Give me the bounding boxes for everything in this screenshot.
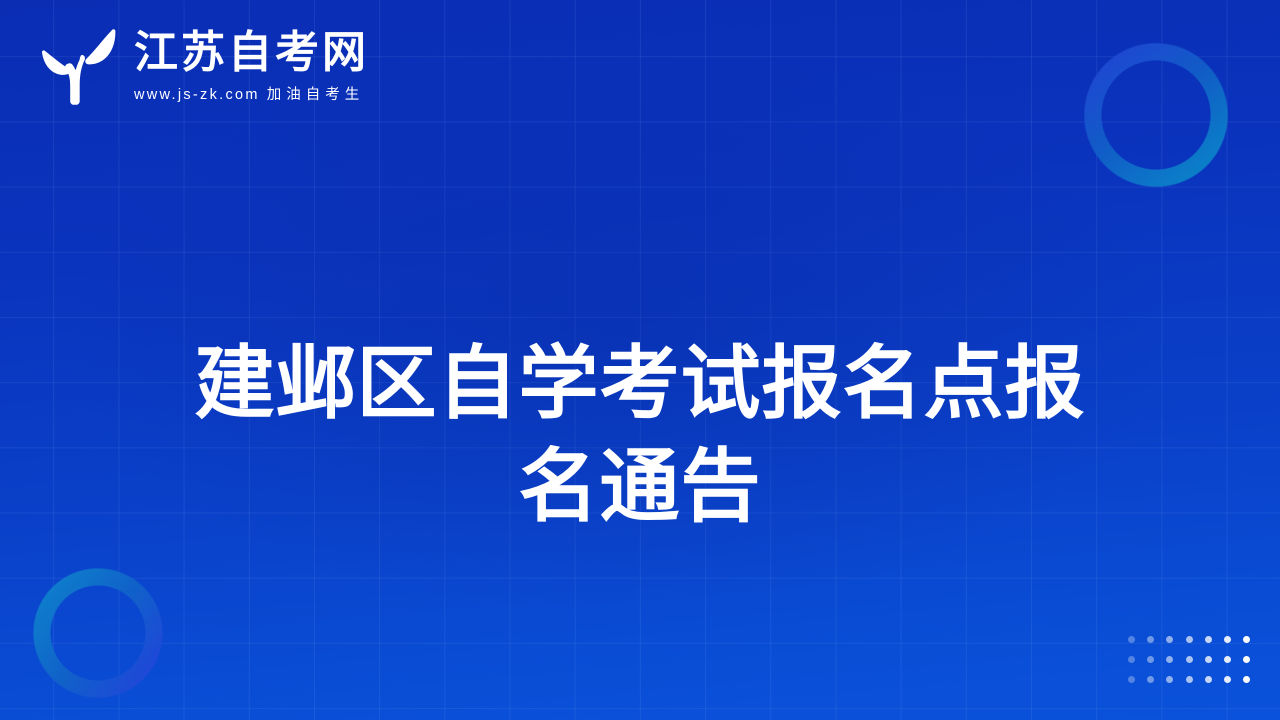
- article-cover-banner: 江苏自考网 www.js-zk.com加油自考生 建邺区自学考试报名点报名通告: [0, 0, 1280, 720]
- decorative-dot-matrix: [1128, 636, 1262, 696]
- decorative-dot: [1147, 676, 1154, 683]
- decorative-dot: [1166, 676, 1173, 683]
- decorative-dot: [1166, 656, 1173, 663]
- decorative-dot: [1128, 656, 1135, 663]
- logo-tagline-url: www.js-zk.com: [134, 87, 260, 103]
- decorative-dot: [1128, 676, 1135, 683]
- decorative-dot: [1224, 656, 1231, 663]
- decorative-dot: [1224, 676, 1231, 683]
- logo-title: 江苏自考网: [134, 30, 369, 76]
- decorative-dot: [1186, 636, 1193, 643]
- decorative-dot: [1243, 656, 1250, 663]
- decorative-ring-bottom-left: [8, 542, 188, 720]
- logo-tagline-slogan: 加油自考生: [267, 87, 365, 103]
- decorative-dot: [1166, 636, 1173, 643]
- decorative-dot: [1186, 656, 1193, 663]
- decorative-dot: [1205, 676, 1212, 683]
- decorative-dot: [1205, 656, 1212, 663]
- decorative-dot: [1147, 656, 1154, 663]
- decorative-dot: [1243, 676, 1250, 683]
- decorative-ring-top-right: [1056, 14, 1256, 216]
- decorative-dot: [1243, 636, 1250, 643]
- logo-tagline: www.js-zk.com加油自考生: [134, 83, 369, 104]
- decorative-dot: [1186, 676, 1193, 683]
- sprout-icon: [34, 24, 126, 108]
- decorative-dot: [1147, 636, 1154, 643]
- cover-headline: 建邺区自学考试报名点报名通告: [0, 332, 1280, 538]
- site-logo[interactable]: 江苏自考网 www.js-zk.com加油自考生: [34, 24, 369, 108]
- decorative-dot: [1128, 636, 1135, 643]
- decorative-dot: [1205, 636, 1212, 643]
- decorative-dot: [1224, 636, 1231, 643]
